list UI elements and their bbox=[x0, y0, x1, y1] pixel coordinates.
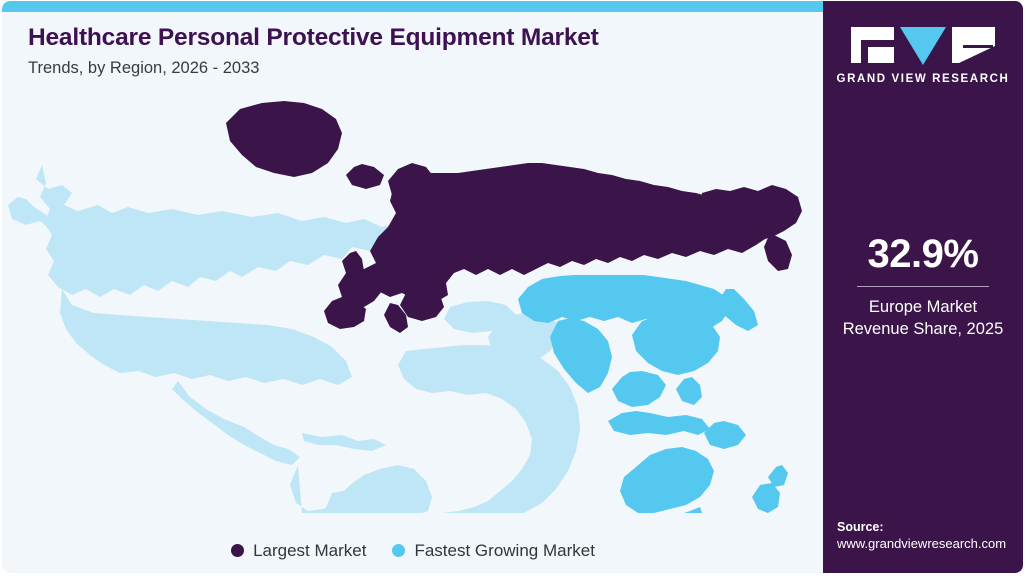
region-tasmania bbox=[684, 507, 702, 513]
left-content-panel: Healthcare Personal Protective Equipment… bbox=[2, 1, 824, 573]
stat-highlight: 32.9% Europe Market Revenue Share, 2025 bbox=[823, 233, 1023, 341]
region-usa bbox=[60, 289, 352, 385]
legend-label-fastest: Fastest Growing Market bbox=[414, 542, 594, 559]
top-accent-bar bbox=[2, 1, 824, 12]
source-block: Source: www.grandviewresearch.com bbox=[837, 519, 1023, 553]
legend-item-largest-market: Largest Market bbox=[231, 542, 366, 559]
region-indonesia bbox=[608, 411, 710, 435]
infographic-root: Healthcare Personal Protective Equipment… bbox=[0, 0, 1025, 576]
logo-marks bbox=[851, 27, 995, 65]
stat-divider bbox=[857, 286, 989, 287]
region-russia-kamchatka bbox=[764, 233, 792, 271]
legend: Largest Market Fastest Growing Market bbox=[2, 542, 824, 559]
right-brand-panel: GRAND VIEW RESEARCH 32.9% Europe Market … bbox=[823, 1, 1023, 573]
region-china-east bbox=[632, 317, 720, 375]
logo-g-icon bbox=[851, 27, 894, 63]
region-alaska bbox=[8, 197, 50, 229]
page-title: Healthcare Personal Protective Equipment… bbox=[28, 23, 808, 52]
region-new-zealand bbox=[752, 483, 780, 513]
region-se-asia bbox=[612, 371, 666, 407]
logo-wordmark: GRAND VIEW RESEARCH bbox=[837, 73, 1010, 85]
legend-dot-largest-icon bbox=[231, 544, 244, 557]
world-map bbox=[2, 93, 824, 513]
title-block: Healthcare Personal Protective Equipment… bbox=[28, 23, 808, 79]
brand-logo: GRAND VIEW RESEARCH bbox=[823, 27, 1023, 85]
page-subtitle: Trends, by Region, 2026 - 2033 bbox=[28, 59, 808, 79]
legend-item-fastest-growing-market: Fastest Growing Market bbox=[392, 542, 594, 559]
region-japan bbox=[718, 289, 758, 331]
region-australia bbox=[620, 447, 714, 513]
stat-value: 32.9% bbox=[823, 233, 1023, 275]
region-papua-new-guinea bbox=[704, 421, 746, 449]
world-map-svg bbox=[2, 93, 824, 513]
stat-description-line1: Europe Market bbox=[823, 296, 1023, 318]
source-label: Source: bbox=[837, 519, 1023, 536]
logo-v-triangle-icon bbox=[900, 27, 946, 65]
region-greenland bbox=[226, 101, 342, 177]
region-philippines bbox=[676, 377, 702, 405]
region-caribbean bbox=[302, 433, 386, 451]
stat-description-line2: Revenue Share, 2025 bbox=[823, 318, 1023, 340]
region-iceland bbox=[346, 164, 384, 189]
source-url[interactable]: www.grandviewresearch.com bbox=[837, 535, 1023, 553]
legend-label-largest: Largest Market bbox=[253, 542, 366, 559]
region-mexico-centralamerica bbox=[172, 381, 300, 465]
logo-r-icon bbox=[952, 27, 995, 63]
legend-dot-fastest-icon bbox=[392, 544, 405, 557]
region-russia-east bbox=[692, 185, 802, 249]
